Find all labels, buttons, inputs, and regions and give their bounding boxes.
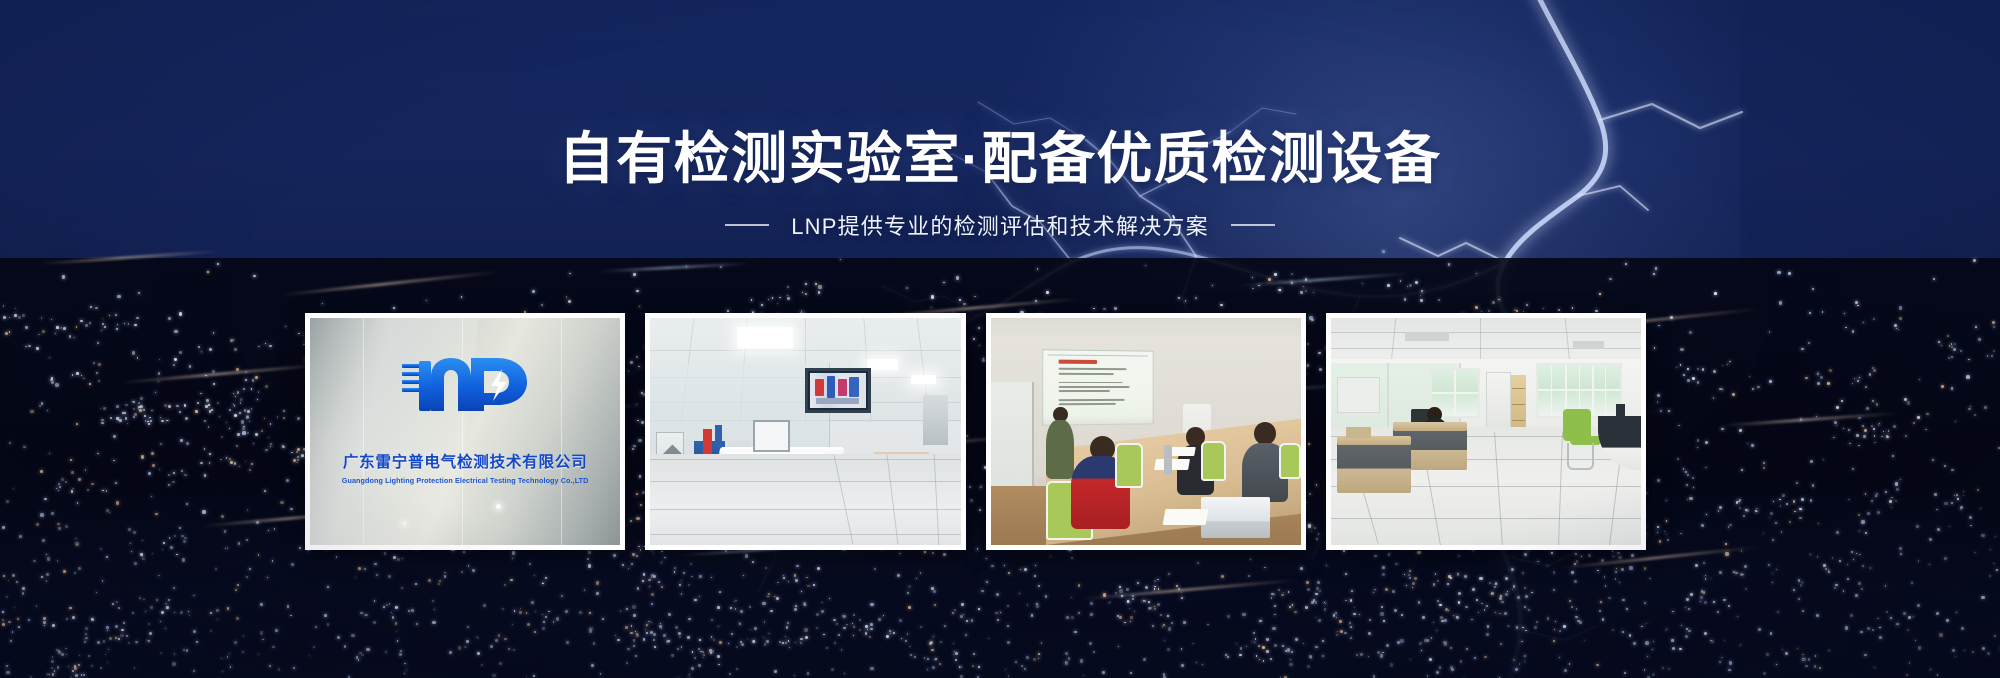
- photo-office-area: [1331, 318, 1641, 545]
- dash-left-decor: [725, 224, 769, 226]
- gallery-card-office-area[interactable]: [1326, 313, 1646, 550]
- wall-monitor: [805, 368, 870, 413]
- logo-caption-english: Guangdong Lighting Protection Electrical…: [342, 476, 589, 485]
- photo-testing-laboratory: [650, 318, 960, 545]
- gallery-card-meeting-room[interactable]: [986, 313, 1306, 550]
- photo-company-logo-wall: 广东雷宁普电气检测技术有限公司 Guangdong Lighting Prote…: [310, 318, 620, 545]
- gallery-card-company-logo-wall[interactable]: 广东雷宁普电气检测技术有限公司 Guangdong Lighting Prote…: [305, 313, 625, 550]
- lnp-logo-icon: [401, 353, 529, 419]
- headline-block: 自有检测实验室·配备优质检测设备 LNP提供专业的检测评估和技术解决方案: [0, 128, 2000, 241]
- gallery-card-testing-laboratory[interactable]: [645, 313, 965, 550]
- page-title: 自有检测实验室·配备优质检测设备: [0, 128, 2000, 191]
- subtitle-row: LNP提供专业的检测评估和技术解决方案: [0, 209, 2000, 241]
- photo-gallery: 广东雷宁普电气检测技术有限公司 Guangdong Lighting Prote…: [305, 313, 1646, 550]
- page-subtitle: LNP提供专业的检测评估和技术解决方案: [791, 209, 1209, 241]
- logo-caption-chinese: 广东雷宁普电气检测技术有限公司: [343, 450, 588, 472]
- console-monitor: [753, 420, 790, 452]
- laptop-icon: [1201, 497, 1269, 538]
- hero-banner: 自有检测实验室·配备优质检测设备 LNP提供专业的检测评估和技术解决方案: [0, 0, 2000, 678]
- photo-meeting-training-room: [991, 318, 1301, 545]
- dash-right-decor: [1231, 224, 1275, 226]
